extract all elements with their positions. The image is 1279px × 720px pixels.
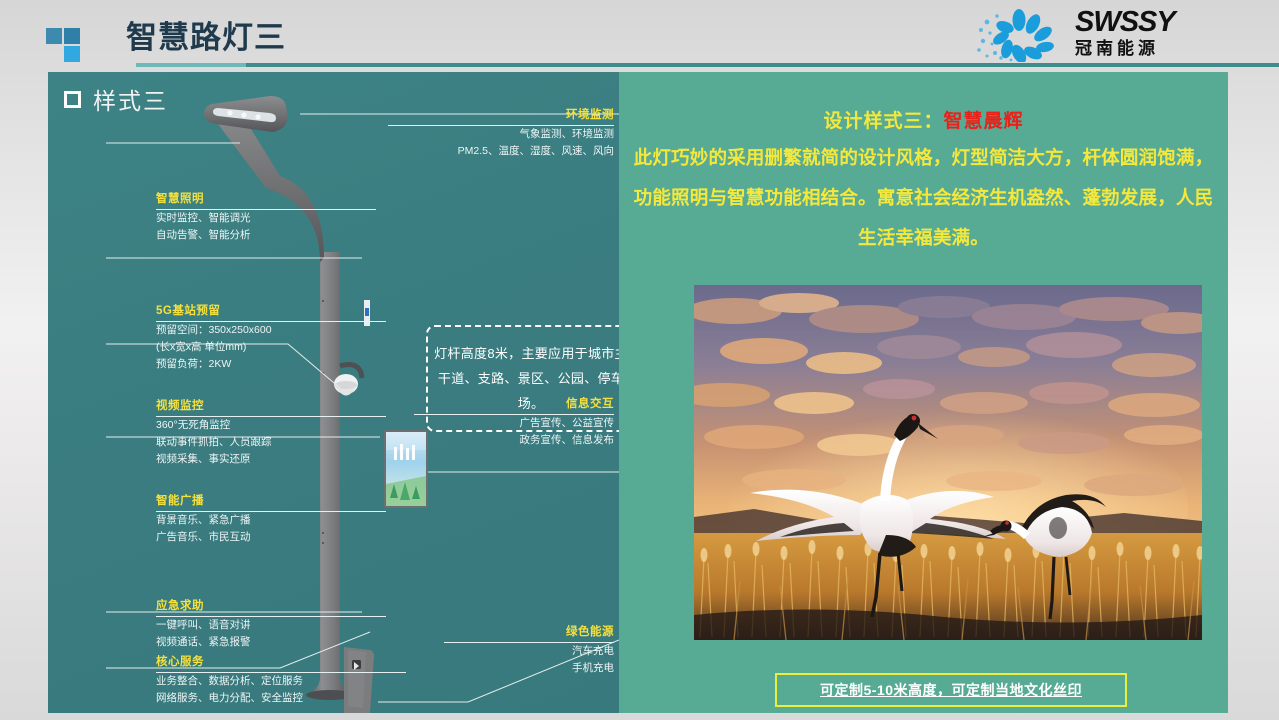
callout-line: 背景音乐、紧急广播 [156, 512, 386, 529]
left-illustration-panel: 样式三 [48, 72, 619, 713]
callout-line: 实时监控、智能调光 [156, 210, 376, 227]
callout-line: 预留空间：350x250x600 [156, 322, 386, 339]
brand-text-block: SWSSY 冠南能源 [1075, 7, 1225, 60]
callout-line: 预留负荷：2KW [156, 356, 386, 373]
brand-name-en: SWSSY [1075, 7, 1225, 37]
callout-smart-lighting: 智慧照明 实时监控、智能调光 自动告警、智能分析 [156, 192, 376, 244]
brand-name-cn: 冠南能源 [1075, 38, 1225, 60]
callout-line: 汽车充电 [444, 643, 614, 660]
crane-sunset-photo [694, 285, 1202, 640]
callout-line: 视频通话、紧急报警 [156, 634, 386, 651]
callout-title: 视频监控 [156, 399, 386, 414]
callout-line: 网络服务、电力分配、安全监控 [156, 690, 406, 707]
brand-logo: SWSSY 冠南能源 [971, 6, 1221, 64]
slide-header: 智慧路灯三 [0, 0, 1279, 66]
callout-line: 360°无死角监控 [156, 417, 386, 434]
application-note-box: 灯杆高度8米，主要应用于城市主干道、支路、景区、公园、停车场。 [426, 325, 619, 432]
callout-line: 气象监测、环境监测 [388, 126, 614, 143]
page-title: 智慧路灯三 [126, 19, 286, 57]
design-style-title-highlight: 智慧晨辉 [944, 111, 1024, 132]
callout-line: 视频采集、事实还原 [156, 451, 386, 468]
design-style-title: 设计样式三：智慧晨辉 [619, 106, 1228, 133]
callout-line: 自动告警、智能分析 [156, 227, 376, 244]
callout-5g-base-station: 5G基站预留 预留空间：350x250x600 (长x宽x高 单位mm) 预留负… [156, 304, 386, 373]
callout-line: PM2.5、温度、湿度、风速、风向 [388, 143, 614, 160]
customization-caption-box: 可定制5-10米高度，可定制当地文化丝印 [775, 673, 1127, 707]
slide-root: 智慧路灯三 [0, 0, 1279, 720]
callout-title: 智能广播 [156, 494, 386, 509]
callout-line: 一键呼叫、语音对讲 [156, 617, 386, 634]
customization-caption-text: 可定制5-10米高度，可定制当地文化丝印 [820, 680, 1082, 700]
design-description: 此灯巧妙的采用删繁就简的设计风格，灯型简洁大方，杆体圆润饱满，功能照明与智慧功能… [631, 138, 1216, 258]
callout-smart-broadcast: 智能广播 背景音乐、紧急广播 广告音乐、市民互动 [156, 494, 386, 546]
decorative-squares-icon [46, 28, 90, 62]
right-description-panel: 设计样式三：智慧晨辉 此灯巧妙的采用删繁就简的设计风格，灯型简洁大方，杆体圆润饱… [619, 72, 1228, 713]
title-divider-accent [136, 63, 246, 67]
callout-title: 应急求助 [156, 599, 386, 614]
callout-emergency-help: 应急求助 一键呼叫、语音对讲 视频通话、紧急报警 [156, 599, 386, 651]
callout-line: 手机充电 [444, 660, 614, 677]
callout-video-surveillance: 视频监控 360°无死角监控 联动事件抓拍、人员跟踪 视频采集、事实还原 [156, 399, 386, 468]
callout-line: 政务宣传、信息发布 [414, 432, 614, 449]
callout-title: 绿色能源 [444, 625, 614, 640]
callout-green-energy: 绿色能源 汽车充电 手机充电 [444, 625, 614, 677]
callout-title: 环境监测 [388, 108, 614, 123]
callout-line: 广告音乐、市民互动 [156, 529, 386, 546]
swssy-mark-icon [971, 8, 1067, 62]
callout-line: 联动事件抓拍、人员跟踪 [156, 434, 386, 451]
application-note-text: 灯杆高度8米，主要应用于城市主干道、支路、景区、公园、停车场。 [428, 341, 619, 416]
callout-title: 智慧照明 [156, 192, 376, 207]
callout-title: 核心服务 [156, 655, 406, 670]
callout-title: 5G基站预留 [156, 304, 386, 319]
callout-core-service: 核心服务 业务整合、数据分析、定位服务 网络服务、电力分配、安全监控 [156, 655, 406, 707]
callout-line: (长x宽x高 单位mm) [156, 339, 386, 356]
design-style-title-prefix: 设计样式三： [823, 111, 943, 132]
callout-environment-monitor: 环境监测 气象监测、环境监测 PM2.5、温度、湿度、风速、风向 [388, 108, 614, 160]
callout-line: 业务整合、数据分析、定位服务 [156, 673, 406, 690]
